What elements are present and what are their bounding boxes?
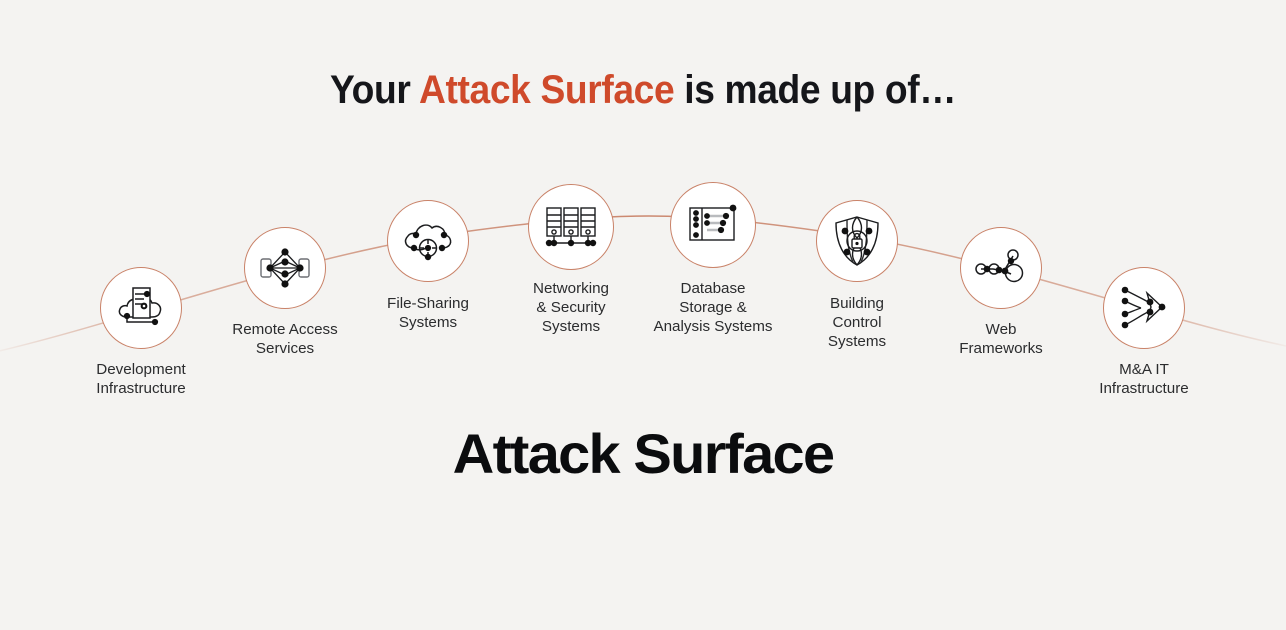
headline-suffix: is made up of… xyxy=(674,68,956,112)
database-analysis-icon xyxy=(685,202,741,248)
converging-arrows-icon xyxy=(1117,283,1171,333)
bubble-building-control-systems[interactable] xyxy=(816,200,898,282)
cloud-share-icon xyxy=(400,217,456,265)
bubble-development-infrastructure[interactable] xyxy=(100,267,182,349)
label-development-infrastructure: Development Infrastructure xyxy=(31,360,251,398)
label-ma-it-infrastructure: M&A IT Infrastructure xyxy=(1034,360,1254,398)
bottom-title: Attack Surface xyxy=(0,421,1286,486)
bubble-networking-security-systems[interactable] xyxy=(528,184,614,270)
server-rack-icon xyxy=(543,202,599,252)
label-web-frameworks: Web Frameworks xyxy=(891,320,1111,358)
bubble-file-sharing-systems[interactable] xyxy=(387,200,469,282)
headline-prefix: Your xyxy=(330,68,419,112)
network-mesh-icon xyxy=(257,245,313,291)
bubble-web-frameworks[interactable] xyxy=(960,227,1042,309)
page-headline: Your Attack Surface is made up of… xyxy=(45,68,1241,113)
headline-accent: Attack Surface xyxy=(419,68,674,112)
bubble-ma-it-infrastructure[interactable] xyxy=(1103,267,1185,349)
molecule-graph-icon xyxy=(973,244,1029,292)
infographic-canvas: Your Attack Surface is made up of… Devel… xyxy=(0,0,1286,630)
bubble-remote-access-services[interactable] xyxy=(244,227,326,309)
bubble-database-storage-analysis-systems[interactable] xyxy=(670,182,756,268)
server-cloud-icon xyxy=(114,283,168,333)
shield-lock-icon xyxy=(831,214,883,268)
